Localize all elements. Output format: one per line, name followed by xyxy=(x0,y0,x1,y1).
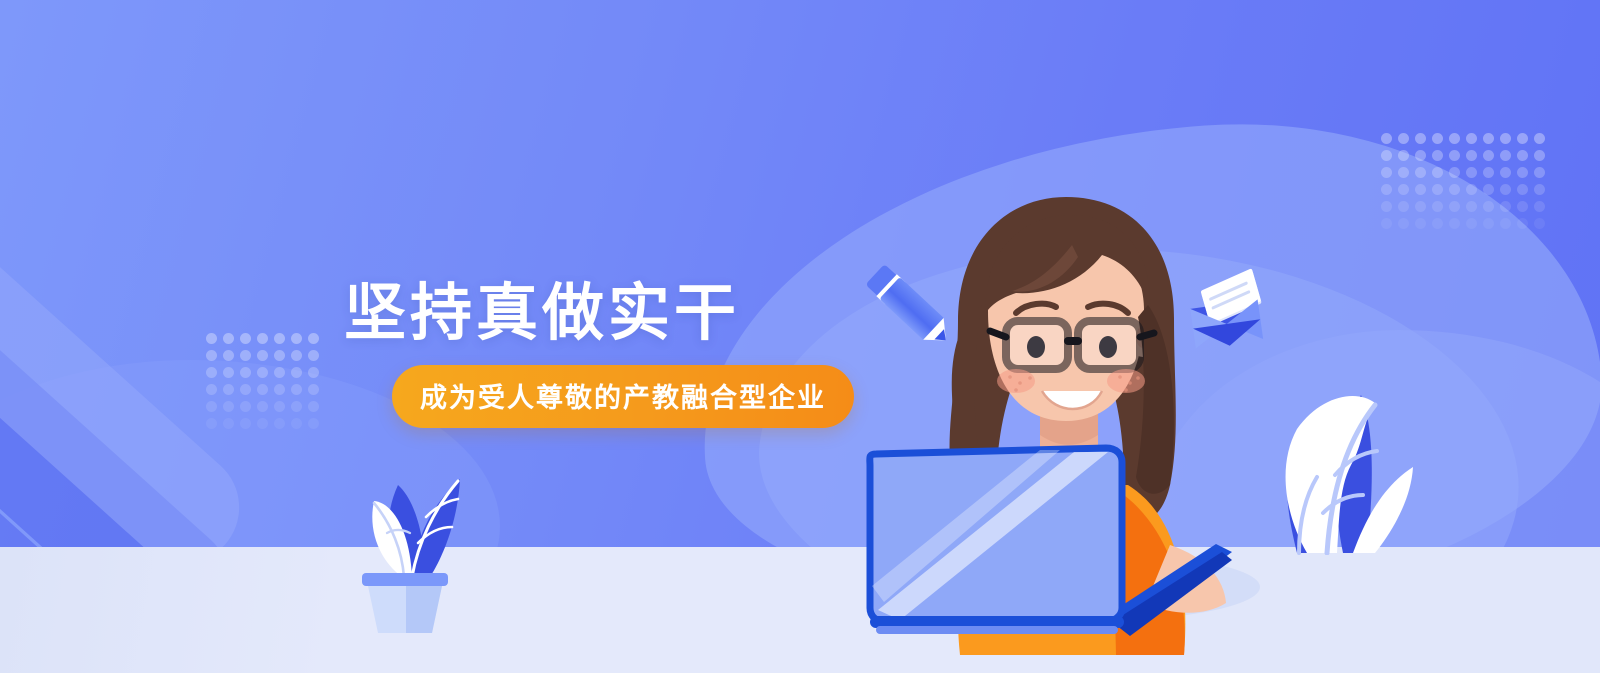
grid-dot xyxy=(257,333,268,344)
grid-dot xyxy=(1517,150,1528,161)
grid-dot xyxy=(240,384,251,395)
grid-dot xyxy=(1466,150,1477,161)
grid-dot xyxy=(1415,150,1426,161)
grid-dot xyxy=(1517,133,1528,144)
grid-dot xyxy=(240,418,251,429)
grid-dot xyxy=(1381,167,1392,178)
grid-dot xyxy=(1415,184,1426,195)
grid-dot xyxy=(1381,218,1392,229)
grid-dot xyxy=(223,401,234,412)
grid-dot xyxy=(1500,150,1511,161)
grid-dot xyxy=(1381,201,1392,212)
grid-dot xyxy=(223,333,234,344)
grid-dot xyxy=(223,418,234,429)
grid-dot xyxy=(1381,184,1392,195)
grid-dot xyxy=(206,350,217,361)
grid-dot xyxy=(1483,201,1494,212)
grid-dot xyxy=(1432,184,1443,195)
grid-dot xyxy=(1534,150,1545,161)
grid-dot xyxy=(1466,201,1477,212)
grid-dot xyxy=(1449,184,1460,195)
grid-dot xyxy=(240,401,251,412)
grid-dot xyxy=(1449,133,1460,144)
grid-dot xyxy=(240,333,251,344)
grid-dot xyxy=(274,367,285,378)
grid-dot xyxy=(1415,218,1426,229)
grid-dot xyxy=(1534,201,1545,212)
grid-dot xyxy=(308,350,319,361)
grid-dot xyxy=(1534,133,1545,144)
grid-dot xyxy=(223,350,234,361)
grid-dot xyxy=(1432,218,1443,229)
grid-dot xyxy=(1517,167,1528,178)
grid-dot xyxy=(1517,201,1528,212)
grid-dot xyxy=(1432,167,1443,178)
grid-dot xyxy=(308,418,319,429)
grid-dot xyxy=(240,350,251,361)
grid-dot xyxy=(291,350,302,361)
grid-dot xyxy=(257,350,268,361)
page-title: 坚持真做实干 xyxy=(344,278,964,347)
grid-dot xyxy=(1500,167,1511,178)
grid-dot xyxy=(1517,218,1528,229)
grid-dot xyxy=(1500,184,1511,195)
grid-dot xyxy=(1517,184,1528,195)
potted-plant-left-icon xyxy=(340,445,470,635)
laptop-illustration xyxy=(860,440,1280,640)
grid-dot xyxy=(1483,133,1494,144)
grid-dot xyxy=(1398,167,1409,178)
grid-dot xyxy=(1534,184,1545,195)
grid-dot xyxy=(274,384,285,395)
grid-dot xyxy=(240,367,251,378)
grid-dot xyxy=(1381,150,1392,161)
grid-dot xyxy=(1398,150,1409,161)
grid-dot xyxy=(1415,201,1426,212)
grid-dot xyxy=(1483,184,1494,195)
grid-dot xyxy=(1449,201,1460,212)
grid-dot xyxy=(274,350,285,361)
grid-dot xyxy=(1449,167,1460,178)
grid-dot xyxy=(308,367,319,378)
banner-copy: 坚持真做实干 成为受人尊敬的产教融合型企业 xyxy=(344,278,964,428)
grid-dot xyxy=(291,384,302,395)
grid-dot xyxy=(1500,201,1511,212)
grid-dot xyxy=(1398,184,1409,195)
grid-dot xyxy=(308,384,319,395)
grid-dot xyxy=(1398,218,1409,229)
floor-shadow-left xyxy=(0,547,330,673)
grid-dot xyxy=(1466,184,1477,195)
grid-dot xyxy=(1483,150,1494,161)
grid-dot xyxy=(206,333,217,344)
tagline-badge: 成为受人尊敬的产教融合型企业 xyxy=(392,365,854,428)
grid-dot xyxy=(274,401,285,412)
grid-dot xyxy=(291,401,302,412)
grid-dot xyxy=(291,418,302,429)
grid-dot xyxy=(1415,167,1426,178)
grid-dot xyxy=(1466,167,1477,178)
grid-dot xyxy=(257,401,268,412)
grid-dot xyxy=(257,418,268,429)
dot-grid-left-icon xyxy=(203,330,322,432)
grid-dot xyxy=(308,333,319,344)
grid-dot xyxy=(1483,218,1494,229)
grid-dot xyxy=(1398,133,1409,144)
grid-dot xyxy=(291,333,302,344)
grid-dot xyxy=(1534,218,1545,229)
grid-dot xyxy=(291,367,302,378)
grid-dot xyxy=(1398,201,1409,212)
grid-dot xyxy=(206,418,217,429)
grid-dot xyxy=(206,401,217,412)
grid-dot xyxy=(206,367,217,378)
grid-dot xyxy=(274,333,285,344)
grid-dot xyxy=(1466,218,1477,229)
grid-dot xyxy=(1500,218,1511,229)
grid-dot xyxy=(206,384,217,395)
grid-dot xyxy=(223,384,234,395)
grid-dot xyxy=(1534,167,1545,178)
grid-dot xyxy=(1415,133,1426,144)
grid-dot xyxy=(274,418,285,429)
grid-dot xyxy=(1432,150,1443,161)
grid-dot xyxy=(1483,167,1494,178)
grid-dot xyxy=(1449,218,1460,229)
grid-dot xyxy=(1466,133,1477,144)
grid-dot xyxy=(1449,150,1460,161)
hero-banner: 坚持真做实干 成为受人尊敬的产教融合型企业 xyxy=(0,0,1600,673)
grid-dot xyxy=(257,367,268,378)
grid-dot xyxy=(1381,133,1392,144)
badge-row: 成为受人尊敬的产教融合型企业 xyxy=(344,365,964,428)
grid-dot xyxy=(223,367,234,378)
grid-dot xyxy=(308,401,319,412)
dot-grid-right-icon xyxy=(1378,130,1548,232)
grid-dot xyxy=(257,384,268,395)
grid-dot xyxy=(1432,201,1443,212)
grid-dot xyxy=(1432,133,1443,144)
grid-dot xyxy=(1500,133,1511,144)
